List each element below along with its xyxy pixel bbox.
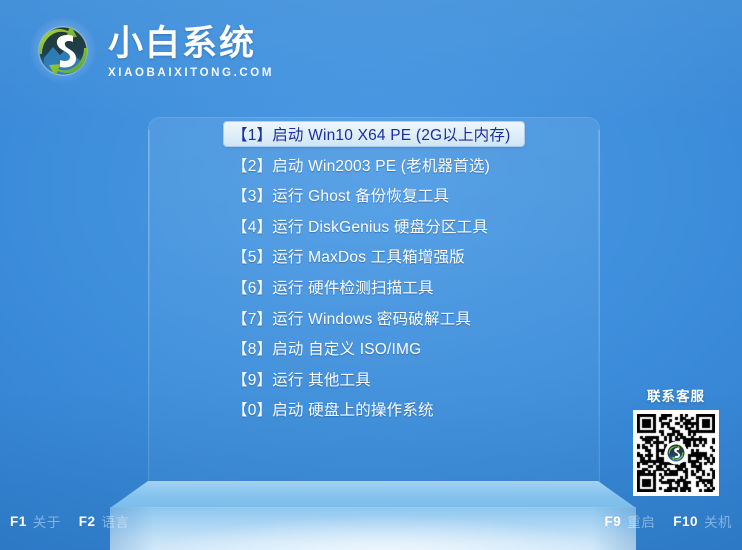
menu-item-label: 【4】运行 DiskGenius 硬盘分区工具	[232, 215, 488, 237]
menu-item-label: 【2】启动 Win2003 PE (老机器首选)	[232, 154, 490, 176]
brand-name-cn: 小白系统	[108, 26, 274, 63]
menu-item-3[interactable]: 【3】运行 Ghost 备份恢复工具	[224, 183, 524, 207]
refresh-circle-logo-icon	[30, 18, 96, 84]
menu-item-label: 【8】启动 自定义 ISO/IMG	[232, 337, 421, 359]
footer-left-keys: F1关于F2语言	[10, 511, 130, 531]
function-key-label-f2: 语言	[102, 511, 130, 531]
qr-center-logo-icon	[666, 443, 686, 463]
panel-left-edge	[148, 130, 150, 483]
function-key-f10[interactable]: F10	[673, 514, 698, 529]
panel-right-edge	[598, 130, 600, 483]
menu-item-5[interactable]: 【5】运行 MaxDos 工具箱增强版	[224, 244, 524, 268]
brand-name-en: XIAOBAIXITONG.COM	[108, 67, 274, 79]
function-key-label-f9: 重启	[627, 511, 655, 531]
menu-item-label: 【0】启动 硬盘上的操作系统	[232, 398, 434, 420]
function-key-label-f1: 关于	[33, 511, 61, 531]
function-key-f1[interactable]: F1	[10, 514, 27, 529]
boot-menu-list[interactable]: 【1】启动 Win10 X64 PE (2G以上内存)【2】启动 Win2003…	[224, 122, 524, 428]
podium-front-face	[110, 507, 636, 550]
contact-support: 联系客服	[622, 385, 730, 496]
contact-support-label: 联系客服	[622, 385, 730, 405]
boot-menu-screen: 小白系统 XIAOBAIXITONG.COM 【1】启动 Win10 X64 P…	[0, 0, 742, 550]
menu-item-9[interactable]: 【9】运行 其他工具	[224, 367, 524, 391]
podium-top-face	[110, 481, 636, 508]
menu-item-label: 【3】运行 Ghost 备份恢复工具	[232, 184, 449, 206]
function-key-f9[interactable]: F9	[604, 514, 621, 529]
menu-item-label: 【6】运行 硬件检测扫描工具	[232, 276, 434, 298]
menu-item-0[interactable]: 【0】启动 硬盘上的操作系统	[224, 397, 524, 421]
menu-item-label: 【5】运行 MaxDos 工具箱增强版	[232, 245, 465, 267]
menu-item-6[interactable]: 【6】运行 硬件检测扫描工具	[224, 275, 524, 299]
menu-item-7[interactable]: 【7】运行 Windows 密码破解工具	[224, 306, 524, 330]
brand-logo: 小白系统 XIAOBAIXITONG.COM	[30, 18, 274, 84]
brand-text: 小白系统 XIAOBAIXITONG.COM	[108, 23, 274, 79]
menu-item-label: 【7】运行 Windows 密码破解工具	[232, 307, 471, 329]
menu-item-8[interactable]: 【8】启动 自定义 ISO/IMG	[224, 336, 524, 360]
menu-item-4[interactable]: 【4】运行 DiskGenius 硬盘分区工具	[224, 214, 524, 238]
menu-item-1[interactable]: 【1】启动 Win10 X64 PE (2G以上内存)	[224, 122, 524, 146]
menu-item-label: 【1】启动 Win10 X64 PE (2G以上内存)	[232, 123, 510, 145]
function-key-f2[interactable]: F2	[79, 514, 96, 529]
menu-item-2[interactable]: 【2】启动 Win2003 PE (老机器首选)	[224, 153, 524, 177]
qr-code-icon[interactable]	[633, 410, 719, 496]
menu-item-label: 【9】运行 其他工具	[232, 368, 371, 390]
footer-right-keys: F9重启F10关机	[604, 511, 732, 531]
function-key-label-f10: 关机	[704, 511, 732, 531]
